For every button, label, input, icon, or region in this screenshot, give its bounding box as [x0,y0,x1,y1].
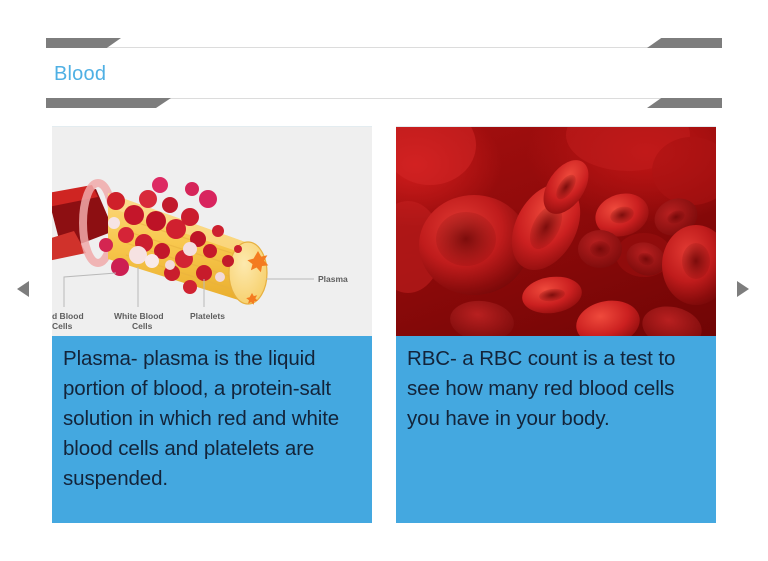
card-carousel: d Blood Cells White Blood Cells Platelet… [0,126,768,526]
diagram-label-rbc: d Blood [52,311,84,321]
diagram-label-wbc: White Blood [114,311,164,321]
card-rbc[interactable]: RBC- a RBC count is a test to see how ma… [396,126,716,523]
header-bar-right-bottom [647,98,722,108]
blood-vessel-diagram-icon: d Blood Cells White Blood Cells Platelet… [52,127,372,336]
diagram-label-wbc-2: Cells [132,321,153,331]
card-plasma-caption: Plasma- plasma is the liquid portion of … [52,336,372,523]
page-title: Blood [54,62,106,86]
header-bar-right-top [647,38,722,48]
header-bar-left-bottom [46,98,171,108]
card-plasma[interactable]: d Blood Cells White Blood Cells Platelet… [52,126,372,523]
header-hairline-top [46,47,722,48]
diagram-label-rbc-2: Cells [52,321,73,331]
card-rbc-caption: RBC- a RBC count is a test to see how ma… [396,336,716,523]
red-blood-cells-photo [396,127,716,336]
card-plasma-media: d Blood Cells White Blood Cells Platelet… [52,126,372,336]
diagram-label-plasma: Plasma [318,274,348,284]
card-rbc-media [396,126,716,336]
header-band: Blood [0,38,768,108]
diagram-label-platelets: Platelets [190,311,225,321]
